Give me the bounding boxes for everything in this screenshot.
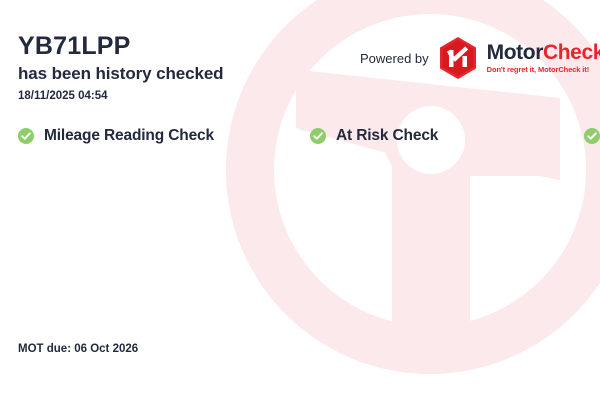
page-title: has been history checked — [18, 64, 223, 84]
history-check-summary-card: YB71LPP has been history checked 18/11/2… — [0, 0, 600, 400]
check-item-label: Mileage Reading Check — [44, 127, 214, 145]
brand-tagline: Don't regret it, MotorCheck it! — [487, 66, 600, 74]
motorcheck-wordmark: MotorCheck Don't regret it, MotorCheck i… — [487, 42, 600, 74]
brand-name-motor: Motor — [487, 41, 543, 64]
mot-due-date: MOT due: 06 Oct 2026 — [18, 343, 138, 355]
vehicle-registration-plate: YB71LPP — [18, 34, 131, 59]
check-item-mileage-reading: Mileage Reading Check — [18, 118, 310, 155]
motorcheck-hexagon-logo-icon — [438, 36, 478, 80]
green-check-circle-icon — [584, 128, 600, 144]
green-check-circle-icon — [18, 128, 34, 144]
check-item-write-offs: Write-Offs Check — [584, 118, 600, 155]
brand-name-check: Check — [543, 41, 600, 64]
history-checks-list: Mileage Reading Check At Risk Check Writ… — [18, 118, 584, 155]
card-header: YB71LPP has been history checked 18/11/2… — [0, 0, 600, 112]
check-item-at-risk: At Risk Check — [310, 118, 584, 155]
brand-lockup: Powered by MotorCheck Don't regret it, M… — [360, 36, 600, 80]
check-item-label: At Risk Check — [336, 127, 438, 145]
check-timestamp: 18/11/2025 04:54 — [18, 90, 108, 104]
green-check-circle-icon — [310, 128, 326, 144]
powered-by-label: Powered by — [360, 51, 429, 66]
